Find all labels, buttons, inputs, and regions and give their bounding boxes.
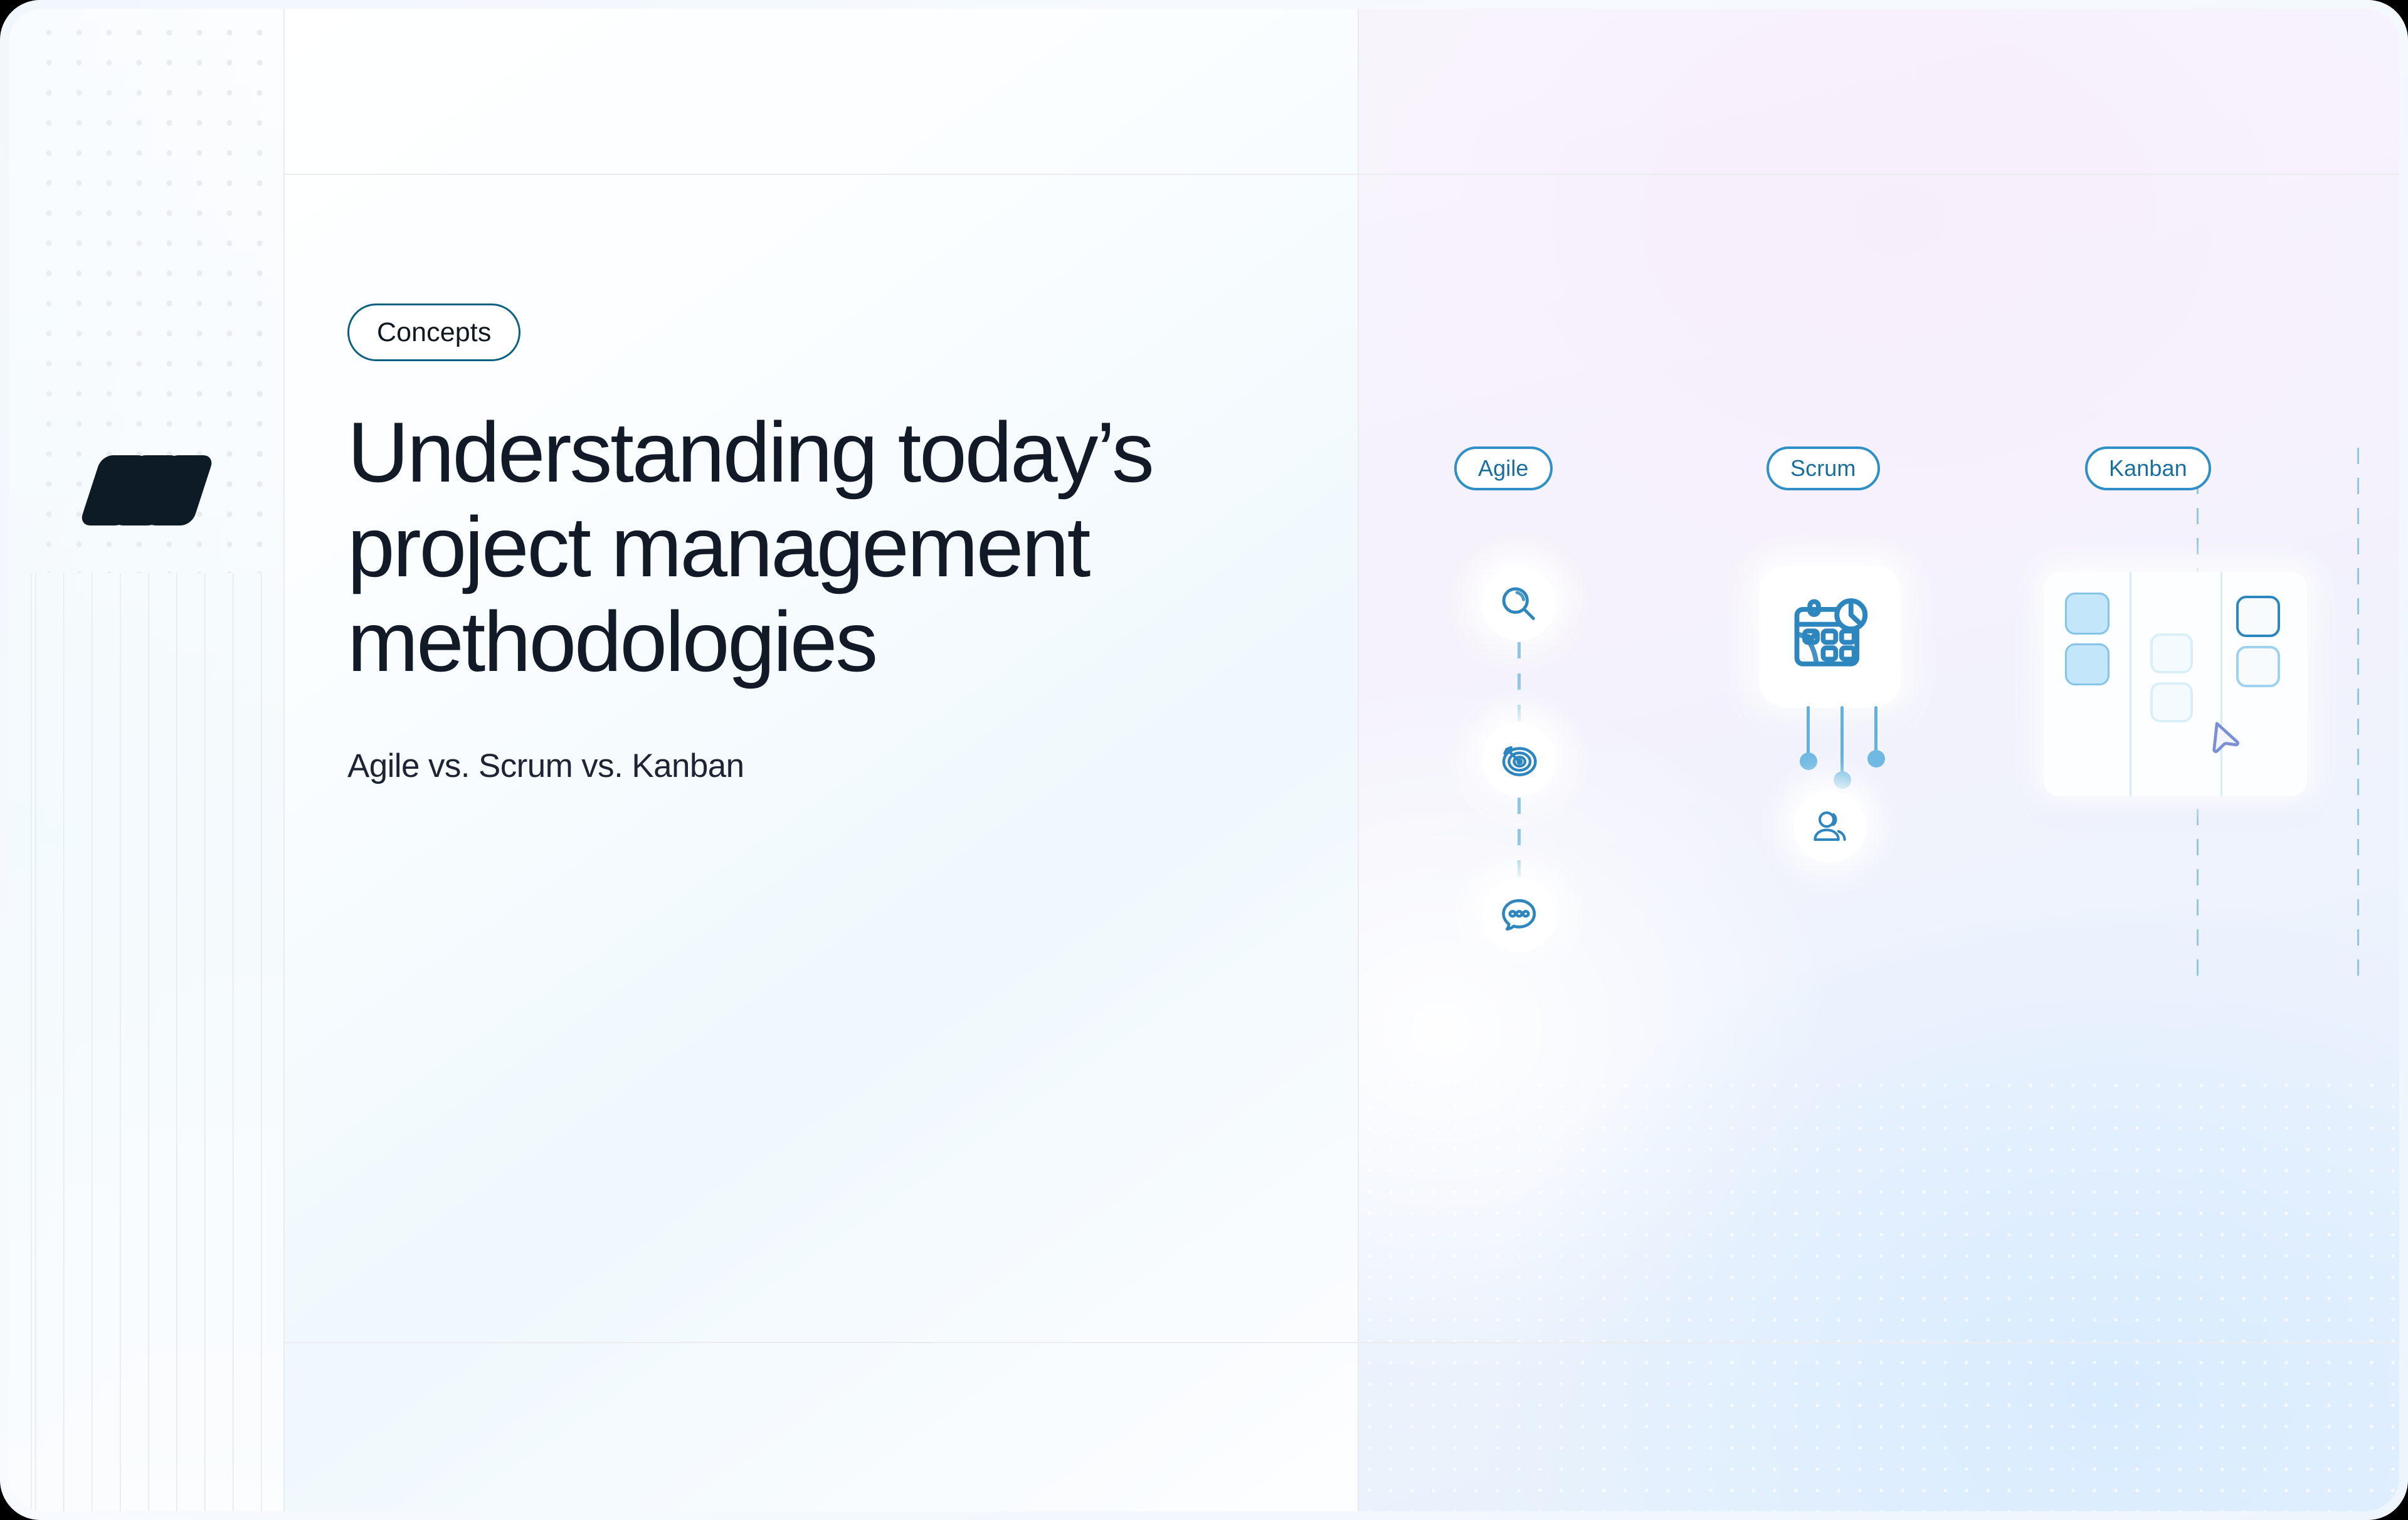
- decorative-left-rail: [9, 9, 285, 1511]
- eyebrow-badge[interactable]: Concepts: [347, 303, 520, 361]
- agile-connector-1: [1518, 642, 1521, 722]
- pointer-cursor-icon: [2204, 721, 2247, 764]
- chat-bubble-icon: [1482, 878, 1556, 952]
- methodology-stage: Agile Scrum Kanban: [1359, 9, 2399, 1511]
- scrum-drop-dot-3: [1867, 750, 1885, 768]
- magnifier-icon: [1482, 567, 1556, 641]
- kanban-board[interactable]: [2044, 572, 2307, 796]
- slide-canvas: Concepts Understanding today’s project m…: [0, 0, 2408, 1520]
- column-pill-scrum[interactable]: Scrum: [1766, 446, 1880, 490]
- page-title: Understanding today’s project management…: [347, 405, 1181, 689]
- target-icon: [1482, 722, 1556, 796]
- calendar-clock-icon: [1759, 566, 1901, 707]
- brand-logo-mark: [90, 448, 197, 536]
- kanban-column-divider-1: [2130, 572, 2131, 796]
- kanban-card[interactable]: [2065, 593, 2110, 635]
- rail-divider: [283, 9, 285, 1511]
- column-pill-agile[interactable]: Agile: [1454, 446, 1553, 490]
- right-illustration-panel: Agile Scrum Kanban: [1359, 9, 2399, 1511]
- page-subtitle: Agile vs. Scrum vs. Kanban: [347, 747, 1257, 785]
- column-separator-2: [2357, 448, 2359, 978]
- title-block: Concepts Understanding today’s project m…: [347, 303, 1257, 785]
- kanban-card[interactable]: [2065, 643, 2110, 685]
- agile-connector-2: [1518, 798, 1521, 878]
- scrum-drop-line-3: [1874, 706, 1877, 755]
- vertical-stripe-pattern: [26, 573, 285, 1511]
- panel-divider-bottom: [285, 1342, 1359, 1343]
- scrum-drop-dot-1: [1800, 752, 1817, 770]
- kanban-card[interactable]: [2236, 596, 2280, 637]
- kanban-card[interactable]: [2150, 682, 2193, 722]
- slide-surface: Concepts Understanding today’s project m…: [9, 9, 2399, 1511]
- scrum-drop-line-2: [1840, 706, 1844, 776]
- column-pill-kanban[interactable]: Kanban: [2085, 446, 2211, 490]
- kanban-card[interactable]: [2236, 646, 2280, 687]
- scrum-drop-line-1: [1807, 706, 1810, 757]
- scrum-drop-dot-2: [1834, 771, 1851, 789]
- left-content-panel: Concepts Understanding today’s project m…: [285, 9, 1359, 1511]
- panel-divider-top: [285, 174, 1359, 175]
- kanban-card[interactable]: [2150, 633, 2193, 673]
- users-icon: [1793, 790, 1866, 863]
